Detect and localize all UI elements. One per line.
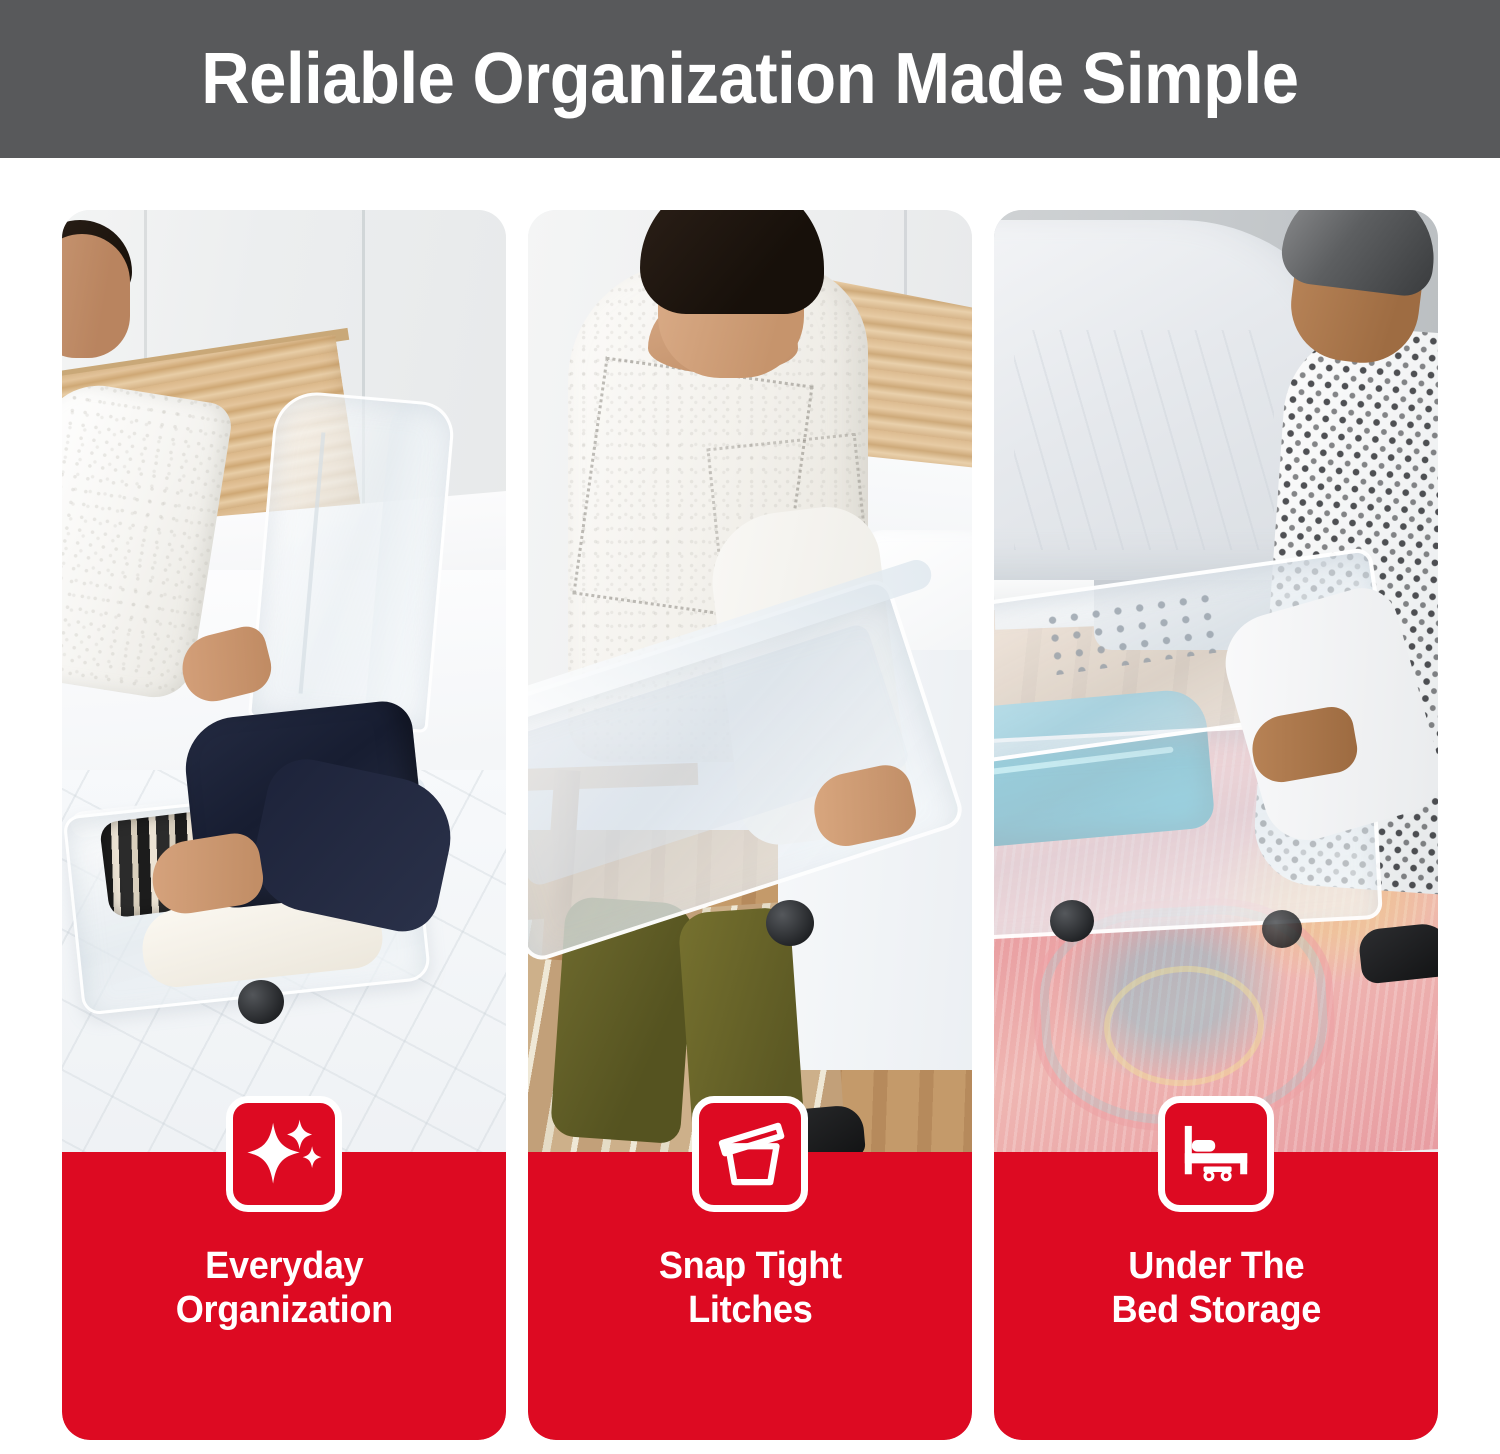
bedding-folds (1014, 330, 1274, 550)
caster-wheel-rear (1262, 910, 1302, 948)
caption-panel-everyday-organization: Everyday Organization (62, 1152, 506, 1440)
feature-card-row: Everyday Organization (0, 158, 1500, 1454)
caption-panel-under-the-bed-storage: Under The Bed Storage (994, 1152, 1438, 1440)
woman-hair (640, 210, 824, 314)
sparkle-icon (226, 1096, 342, 1212)
page-title: Reliable Organization Made Simple (201, 38, 1298, 120)
photo-under-the-bed-storage (994, 210, 1438, 1152)
shoe (1357, 921, 1438, 984)
caption-panel-snap-tight-latches: Snap Tight Litches (528, 1152, 972, 1440)
header-bar: Reliable Organization Made Simple (0, 0, 1500, 158)
caption-line-1: Under The (1111, 1244, 1321, 1288)
caption-text-everyday-organization: Everyday Organization (158, 1244, 409, 1332)
caption-line-1: Everyday (175, 1244, 392, 1288)
caster-wheel-front (1050, 900, 1094, 942)
caption-line-2: Bed Storage (1111, 1288, 1321, 1332)
bin-with-lid-icon (692, 1096, 808, 1212)
photo-everyday-organization (62, 210, 506, 1152)
product-feature-infographic: Reliable Organization Made Simple (0, 0, 1500, 1454)
feature-card-snap-tight-latches[interactable]: Snap Tight Litches (528, 210, 972, 1440)
photo-snap-tight-latches (528, 210, 972, 1152)
caster-wheel (766, 900, 814, 946)
feature-card-everyday-organization[interactable]: Everyday Organization (62, 210, 506, 1440)
feature-card-under-the-bed-storage[interactable]: Under The Bed Storage (994, 210, 1438, 1440)
caption-line-2: Litches (659, 1288, 842, 1332)
woman-head (62, 234, 130, 358)
caption-line-1: Snap Tight (659, 1244, 842, 1288)
bed-with-storage-icon (1158, 1096, 1274, 1212)
caption-text-snap-tight-latches: Snap Tight Litches (641, 1244, 858, 1332)
caption-text-under-the-bed-storage: Under The Bed Storage (1094, 1244, 1338, 1332)
bin-lid-open (248, 389, 456, 733)
caption-line-2: Organization (175, 1288, 392, 1332)
